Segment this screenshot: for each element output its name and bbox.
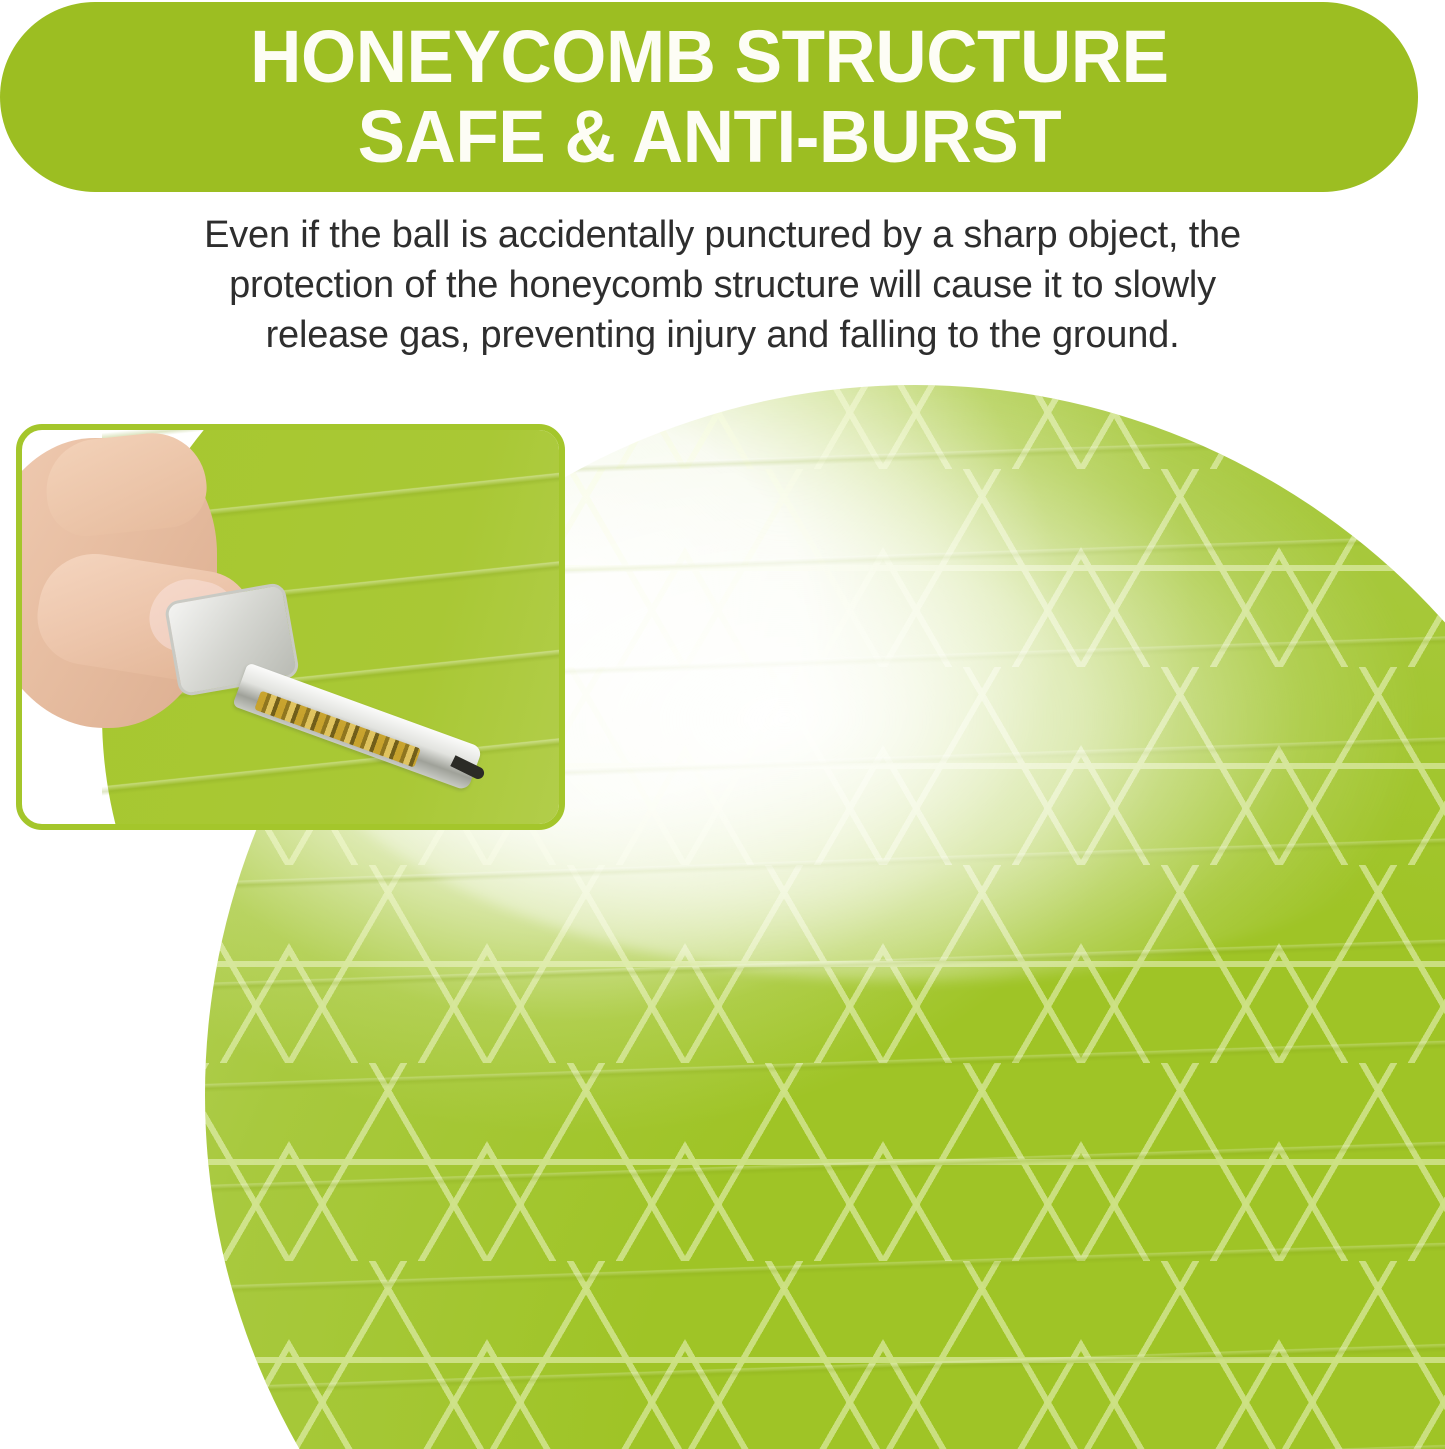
headline-line-1: HONEYCOMB STRUCTURE bbox=[250, 17, 1168, 97]
headline-banner: HONEYCOMB STRUCTURE SAFE & ANTI-BURST bbox=[0, 2, 1418, 192]
description-paragraph: Even if the ball is accidentally punctur… bbox=[60, 210, 1385, 360]
puncture-demo-card bbox=[16, 424, 565, 830]
description-line-1: Even if the ball is accidentally punctur… bbox=[60, 210, 1385, 260]
headline-line-2: SAFE & ANTI-BURST bbox=[357, 97, 1061, 177]
description-line-3: release gas, preventing injury and falli… bbox=[60, 310, 1385, 360]
description-line-2: protection of the honeycomb structure wi… bbox=[60, 260, 1385, 310]
product-feature-graphic: HONEYCOMB STRUCTURE SAFE & ANTI-BURST Ev… bbox=[0, 0, 1445, 1449]
